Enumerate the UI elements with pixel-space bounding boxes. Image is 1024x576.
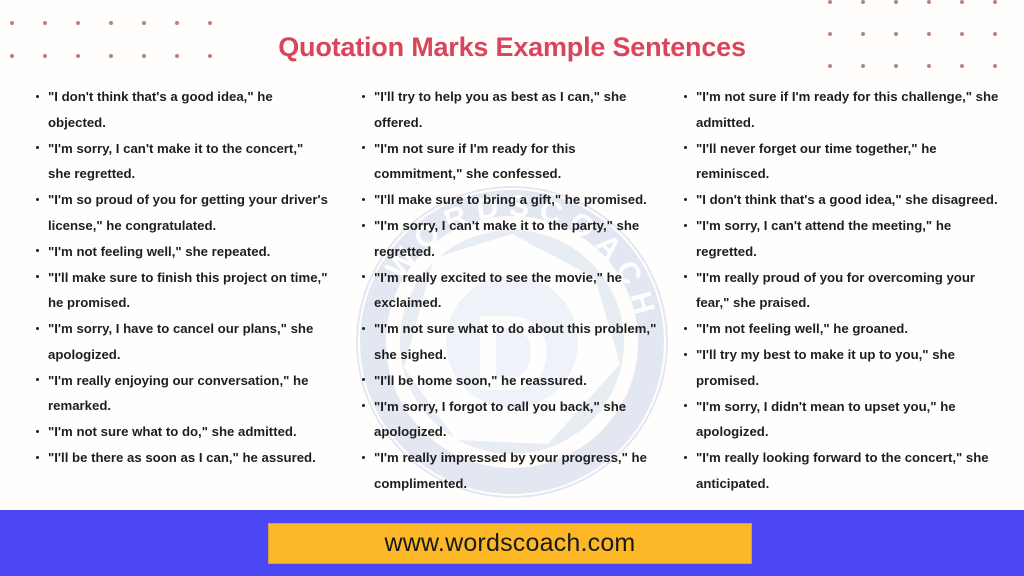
list-item: "I'm sorry, I forgot to call you back," … bbox=[374, 394, 662, 445]
list-item: "I'm not feeling well," she repeated. bbox=[48, 239, 328, 265]
list-item: "I don't think that's a good idea," she … bbox=[696, 187, 1010, 213]
list-item: "I'm not sure if I'm ready for this chal… bbox=[696, 84, 1010, 135]
list-item: "I'm sorry, I didn't mean to upset you,"… bbox=[696, 394, 1010, 445]
list-item: "I'm sorry, I can't make it to the conce… bbox=[48, 136, 328, 187]
footer-url-text: www.wordscoach.com bbox=[385, 529, 636, 558]
sentence-column-1: "I don't think that's a good idea," he o… bbox=[0, 84, 336, 508]
decorative-dot bbox=[828, 0, 832, 4]
list-item: "I'm not sure what to do," she admitted. bbox=[48, 419, 328, 445]
decorative-dot bbox=[76, 21, 80, 25]
decorative-dot bbox=[927, 64, 931, 68]
footer-url-badge[interactable]: www.wordscoach.com bbox=[268, 523, 752, 564]
decorative-dot bbox=[142, 21, 146, 25]
list-item: "I'm sorry, I can't make it to the party… bbox=[374, 213, 662, 264]
decorative-dot bbox=[894, 0, 898, 4]
sentence-list-1: "I don't think that's a good idea," he o… bbox=[28, 84, 328, 471]
decorative-dot bbox=[208, 21, 212, 25]
list-item: "I'll make sure to bring a gift," he pro… bbox=[374, 187, 662, 213]
decorative-dot bbox=[10, 21, 14, 25]
page-title: Quotation Marks Example Sentences bbox=[0, 32, 1024, 63]
list-item: "I'm really enjoying our conversation," … bbox=[48, 368, 328, 419]
sentence-column-3: "I'm not sure if I'm ready for this chal… bbox=[666, 84, 1024, 508]
list-item: "I'm sorry, I can't attend the meeting,"… bbox=[696, 213, 1010, 264]
sentence-list-3: "I'm not sure if I'm ready for this chal… bbox=[676, 84, 1010, 496]
list-item: "I'm sorry, I have to cancel our plans,"… bbox=[48, 316, 328, 367]
decorative-dot bbox=[960, 64, 964, 68]
sentence-columns: "I don't think that's a good idea," he o… bbox=[0, 84, 1024, 508]
decorative-dot bbox=[861, 64, 865, 68]
sentence-column-2: "I'll try to help you as best as I can,"… bbox=[336, 84, 666, 508]
list-item: "I'll try my best to make it up to you,"… bbox=[696, 342, 1010, 393]
list-item: "I'll make sure to finish this project o… bbox=[48, 265, 328, 316]
list-item: "I'm not sure what to do about this prob… bbox=[374, 316, 662, 367]
list-item: "I'll try to help you as best as I can,"… bbox=[374, 84, 662, 135]
decorative-dot bbox=[894, 64, 898, 68]
footer-bar: www.wordscoach.com bbox=[0, 510, 1024, 576]
list-item: "I'll be home soon," he reassured. bbox=[374, 368, 662, 394]
decorative-dot bbox=[43, 21, 47, 25]
list-item: "I'm really looking forward to the conce… bbox=[696, 445, 1010, 496]
list-item: "I'll never forget our time together," h… bbox=[696, 136, 1010, 187]
list-item: "I'm not feeling well," he groaned. bbox=[696, 316, 1010, 342]
list-item: "I'm so proud of you for getting your dr… bbox=[48, 187, 328, 238]
list-item: "I don't think that's a good idea," he o… bbox=[48, 84, 328, 135]
decorative-dot bbox=[927, 0, 931, 4]
list-item: "I'm really excited to see the movie," h… bbox=[374, 265, 662, 316]
decorative-dot bbox=[993, 0, 997, 4]
decorative-dot bbox=[828, 64, 832, 68]
decorative-dot bbox=[861, 0, 865, 4]
decorative-dot bbox=[993, 64, 997, 68]
list-item: "I'll be there as soon as I can," he ass… bbox=[48, 445, 328, 471]
list-item: "I'm really impressed by your progress,"… bbox=[374, 445, 662, 496]
list-item: "I'm really proud of you for overcoming … bbox=[696, 265, 1010, 316]
list-item: "I'm not sure if I'm ready for this comm… bbox=[374, 136, 662, 187]
decorative-dot bbox=[175, 21, 179, 25]
sentence-list-2: "I'll try to help you as best as I can,"… bbox=[354, 84, 662, 496]
decorative-dot bbox=[109, 21, 113, 25]
decorative-dot bbox=[960, 0, 964, 4]
